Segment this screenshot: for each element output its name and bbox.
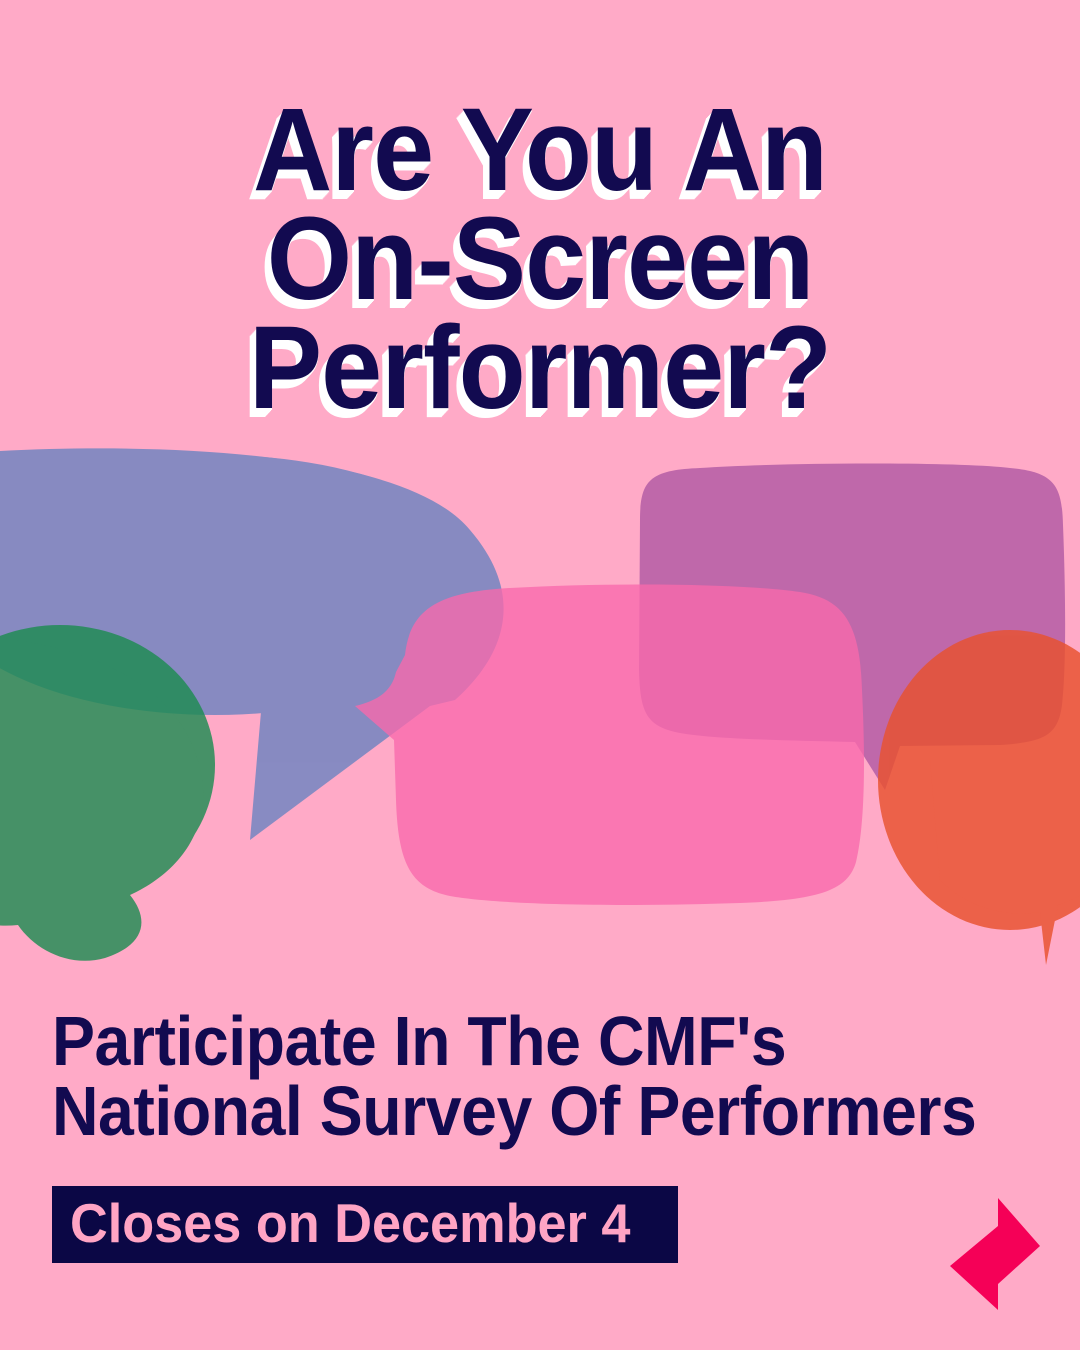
subtitle-line-2: National Survey Of Performers — [52, 1076, 976, 1146]
status-badge: Closes on December 4 — [52, 1186, 678, 1263]
cmf-arrow-logo-icon — [946, 1196, 1042, 1312]
subtitle-line-1: Participate In The CMF's — [52, 1006, 976, 1076]
speech-bubble-pink — [355, 585, 864, 905]
subtitle: Participate In The CMF's National Survey… — [52, 1006, 1057, 1146]
headline-line-2: On-Screen — [38, 205, 1042, 314]
deadline-label: Closes on December 4 — [70, 1196, 630, 1251]
headline-line-3: Performer? — [38, 314, 1042, 423]
headline-line-1: Are You An — [38, 96, 1042, 205]
page-title: Are You An On-Screen Performer? — [0, 96, 1080, 423]
promotional-poster: Are You An On-Screen Performer? Particip… — [0, 0, 1080, 1350]
